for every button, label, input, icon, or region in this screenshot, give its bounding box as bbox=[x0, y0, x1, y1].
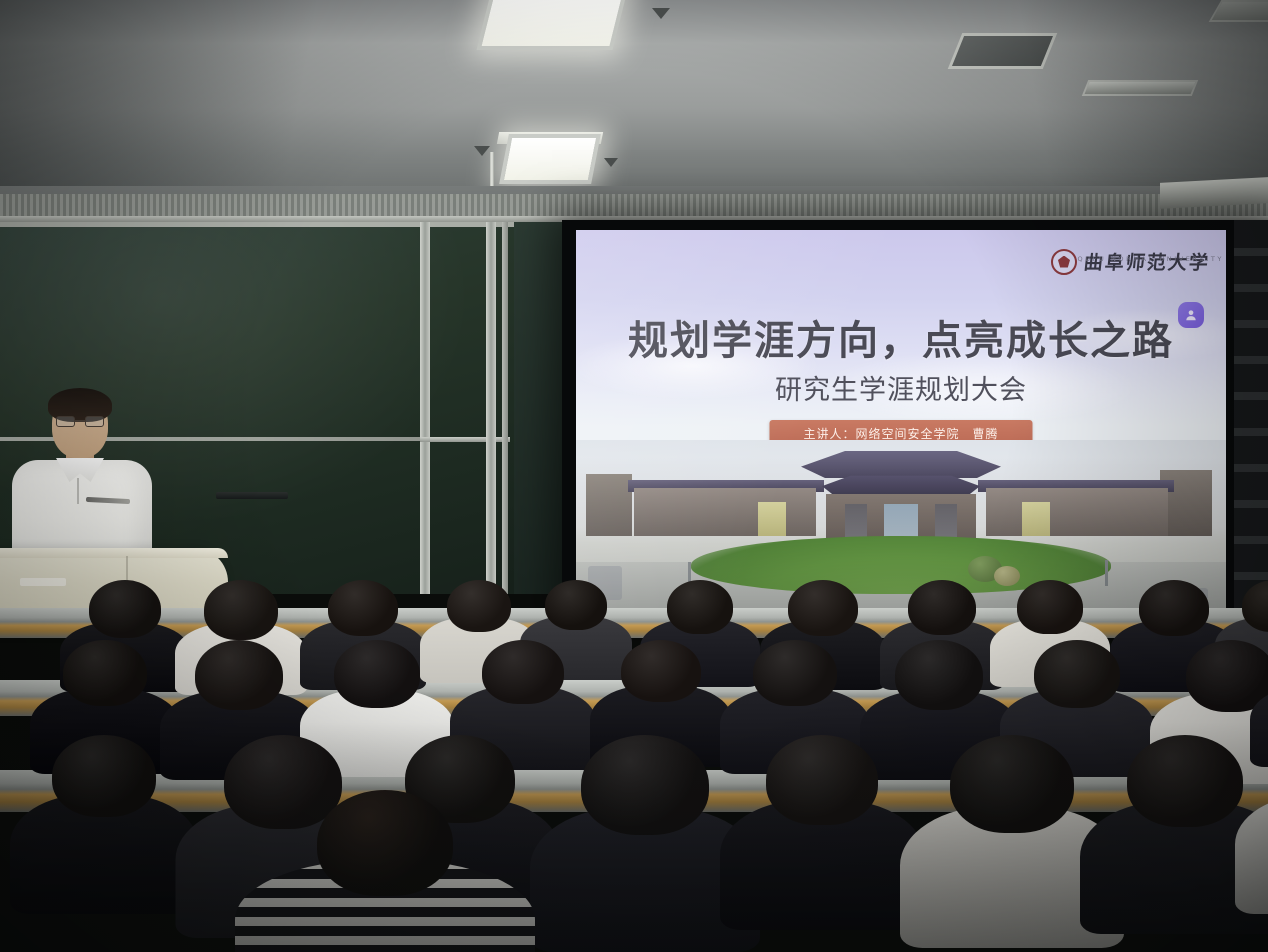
sprinkler-head-icon bbox=[652, 8, 670, 19]
audience-person-head bbox=[895, 640, 983, 710]
slide-subtitle: 研究生学涯规划大会 bbox=[576, 368, 1226, 407]
university-seal-icon bbox=[1051, 249, 1077, 275]
wall-ribbed-trim bbox=[0, 194, 1268, 216]
audience-person-head bbox=[63, 640, 147, 706]
audience-person-head bbox=[667, 580, 733, 634]
audience-person-head bbox=[621, 640, 701, 702]
audience-person-head bbox=[545, 580, 607, 630]
university-name-en: QUFU NORMAL UNIVERSITY bbox=[1078, 255, 1224, 263]
audience-person bbox=[720, 735, 924, 952]
audience-person-head bbox=[195, 640, 283, 710]
sprinkler-head-icon bbox=[474, 146, 490, 156]
ceiling-shadow bbox=[968, 0, 1268, 196]
lecture-hall-scene: 核的 曲阜师范大学 QUFU NORMAL UNIVERSITY 规划学涯方向，… bbox=[0, 0, 1268, 952]
audience-person bbox=[10, 735, 198, 937]
audience-person-head bbox=[950, 735, 1074, 833]
audience-person-head bbox=[908, 580, 976, 635]
striped-shirt-head bbox=[317, 790, 453, 896]
audience-person-head bbox=[52, 735, 156, 817]
audience-person-head bbox=[334, 640, 420, 708]
gate-roof bbox=[801, 448, 1001, 478]
sprinkler-head-icon bbox=[604, 158, 618, 167]
audience-person-head bbox=[1139, 580, 1209, 636]
audience-person-head bbox=[581, 735, 709, 835]
slide-title: 规划学涯方向，点亮成长之路 bbox=[576, 308, 1226, 366]
audience-person-head bbox=[1017, 580, 1083, 634]
audience-person-head bbox=[204, 580, 278, 640]
audience-person-head bbox=[1127, 735, 1243, 827]
striped-shirt-person bbox=[235, 790, 535, 952]
audience-person-head bbox=[89, 580, 161, 638]
ceiling bbox=[0, 0, 1268, 196]
presenter-placket bbox=[77, 478, 79, 504]
blackboard-frame bbox=[420, 437, 510, 442]
ceiling-light bbox=[482, 0, 625, 46]
audience-person-head bbox=[766, 735, 878, 825]
audience-person-head bbox=[1034, 640, 1120, 708]
eraser-tray bbox=[216, 492, 288, 499]
ceiling-shadow bbox=[0, 0, 420, 196]
audience-person-head bbox=[788, 580, 858, 636]
audience-person-body bbox=[1235, 794, 1268, 914]
audience bbox=[0, 520, 1268, 952]
audience-person-head bbox=[447, 580, 511, 632]
audience-person bbox=[1235, 735, 1268, 937]
glasses-icon bbox=[56, 416, 104, 427]
audience-person-head bbox=[328, 580, 398, 636]
audience-person-head bbox=[482, 640, 564, 704]
audience-person-head bbox=[753, 640, 837, 706]
ceiling-light bbox=[504, 138, 596, 180]
